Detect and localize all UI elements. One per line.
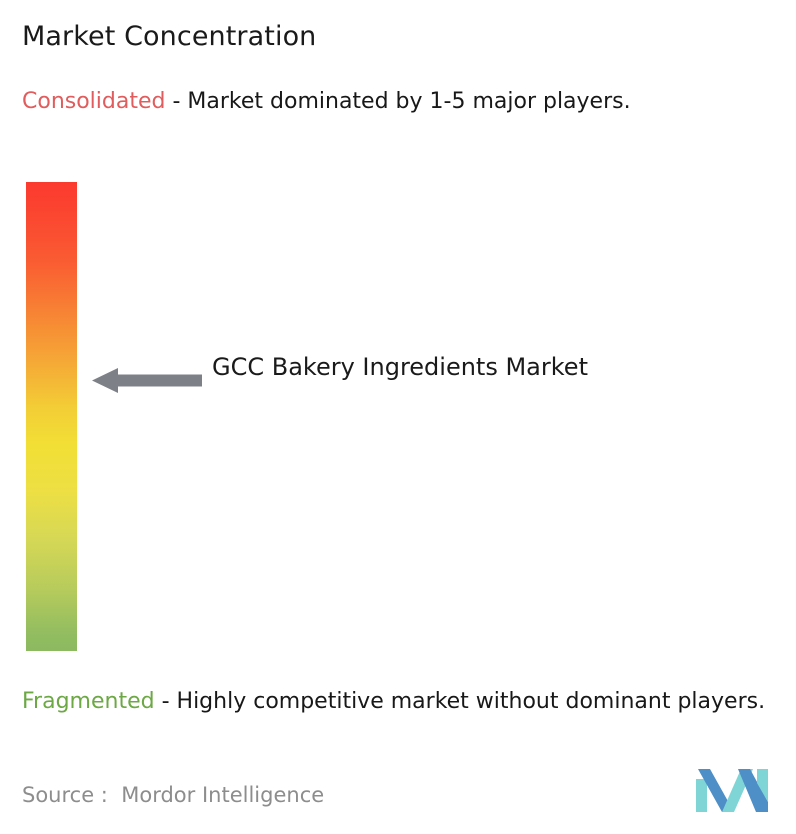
legend-fragmented-separator: - bbox=[155, 689, 177, 714]
concentration-scale-bar bbox=[26, 182, 77, 651]
legend-consolidated-term: Consolidated bbox=[22, 89, 165, 114]
market-pointer-label: GCC Bakery Ingredients Market bbox=[212, 350, 642, 385]
mordor-intelligence-logo bbox=[696, 769, 768, 812]
arrow-left-glyph bbox=[92, 368, 202, 393]
legend-fragmented-term: Fragmented bbox=[22, 689, 155, 714]
mordor-logo-glyph bbox=[696, 769, 768, 812]
legend-fragmented: Fragmented - Highly competitive market w… bbox=[22, 686, 784, 717]
source-line: Source : Mordor Intelligence bbox=[22, 781, 324, 809]
page-title: Market Concentration bbox=[22, 20, 316, 54]
legend-consolidated-description: Market dominated by 1-5 major players. bbox=[187, 89, 630, 114]
source-label: Source : bbox=[22, 783, 108, 807]
legend-consolidated: Consolidated - Market dominated by 1-5 m… bbox=[22, 86, 762, 117]
arrow-left-icon bbox=[92, 368, 202, 393]
legend-consolidated-separator: - bbox=[165, 89, 187, 114]
source-value: Mordor Intelligence bbox=[121, 783, 324, 807]
legend-fragmented-description: Highly competitive market without domina… bbox=[177, 689, 766, 714]
